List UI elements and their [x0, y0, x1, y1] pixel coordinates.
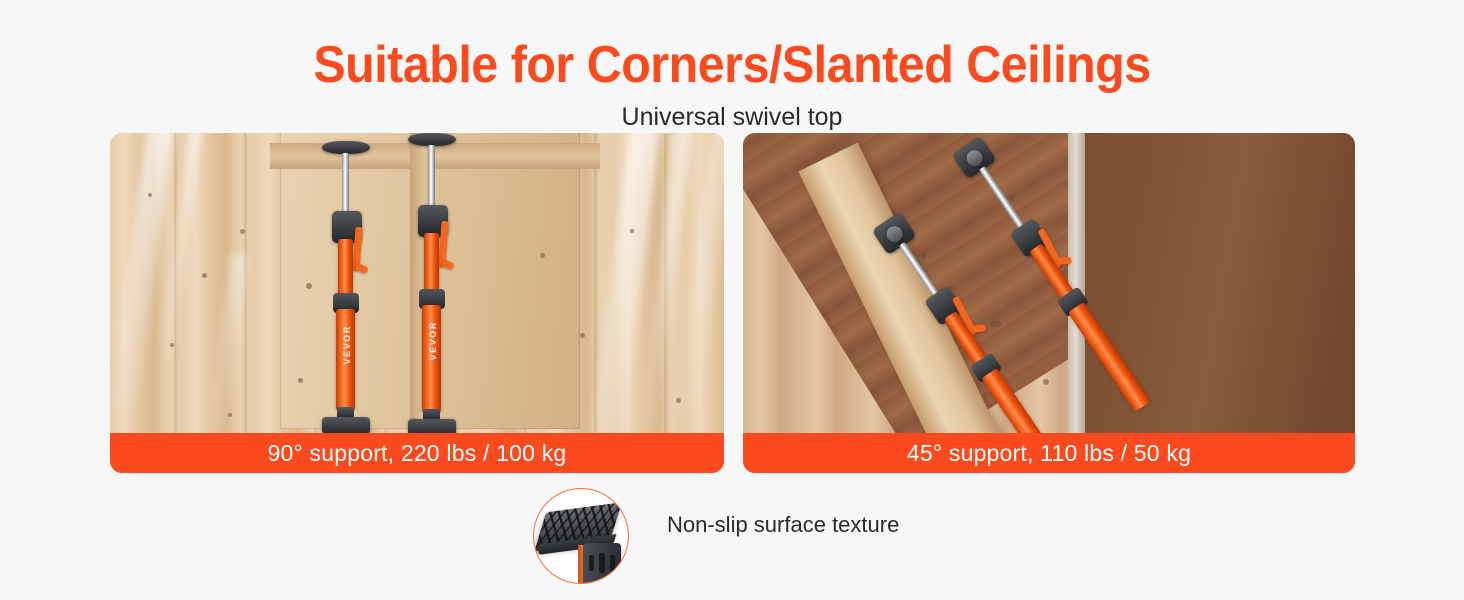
- wood-knot: [676, 398, 681, 403]
- non-slip-pad-icon: [533, 488, 629, 584]
- pole-chrome-rod: [428, 145, 435, 209]
- header: Suitable for Corners/Slanted Ceilings Un…: [0, 0, 1464, 132]
- wood-knot: [148, 193, 152, 197]
- wood-knot: [298, 378, 303, 383]
- wood-knot: [240, 229, 245, 234]
- badge-clip: [534, 489, 628, 583]
- dark-brown-wall-panel: [1085, 133, 1355, 473]
- pole-upper-tube: [338, 239, 353, 301]
- pole-lever-tip: [1058, 257, 1072, 265]
- panel-caption-45: 45° support, 110 lbs / 50 kg: [743, 433, 1355, 473]
- feature-panels: VEVOR VEVOR 90° support, 220 lbs / 100 k…: [110, 133, 1355, 473]
- pole-lever-tip: [441, 259, 455, 270]
- pole-lever-tip: [355, 263, 369, 274]
- pole-chrome-rod: [342, 153, 349, 215]
- panel-slanted-45: 45° support, 110 lbs / 50 kg: [743, 133, 1355, 473]
- wood-knot: [580, 333, 585, 338]
- wood-knot: [202, 273, 207, 278]
- support-pole-left: VEVOR: [320, 139, 372, 437]
- non-slip-label: Non-slip surface texture: [667, 512, 899, 538]
- page-title: Suitable for Corners/Slanted Ceilings: [51, 0, 1413, 94]
- pole-base-pad: [322, 417, 370, 434]
- housing-slot: [589, 555, 594, 571]
- wood-knot: [306, 283, 312, 289]
- wood-knot: [540, 253, 545, 258]
- pole-chrome-rod: [979, 166, 1026, 231]
- wood-knot: [1043, 379, 1049, 385]
- pole-upper-tube: [424, 233, 439, 297]
- footer: Non-slip surface texture: [0, 486, 1464, 600]
- photo-90-degree-support: VEVOR VEVOR: [110, 133, 724, 473]
- brand-label: VEVOR: [428, 321, 438, 361]
- wood-knot: [630, 229, 634, 233]
- pole-chrome-rod: [899, 242, 941, 299]
- housing-slot: [610, 555, 615, 571]
- page-subtitle: Universal swivel top: [0, 94, 1464, 132]
- pole-lever-tip: [973, 324, 987, 332]
- support-pole-right: VEVOR: [406, 133, 458, 443]
- panel-corner-90: VEVOR VEVOR 90° support, 220 lbs / 100 k…: [110, 133, 724, 473]
- panel-caption-90: 90° support, 220 lbs / 100 kg: [110, 433, 724, 473]
- wood-knot: [228, 413, 232, 417]
- brand-label: VEVOR: [342, 325, 352, 365]
- photo-45-degree-support: [743, 133, 1355, 473]
- swivel-housing: [583, 543, 621, 583]
- wood-knot: [170, 343, 174, 347]
- housing-slot: [599, 553, 605, 573]
